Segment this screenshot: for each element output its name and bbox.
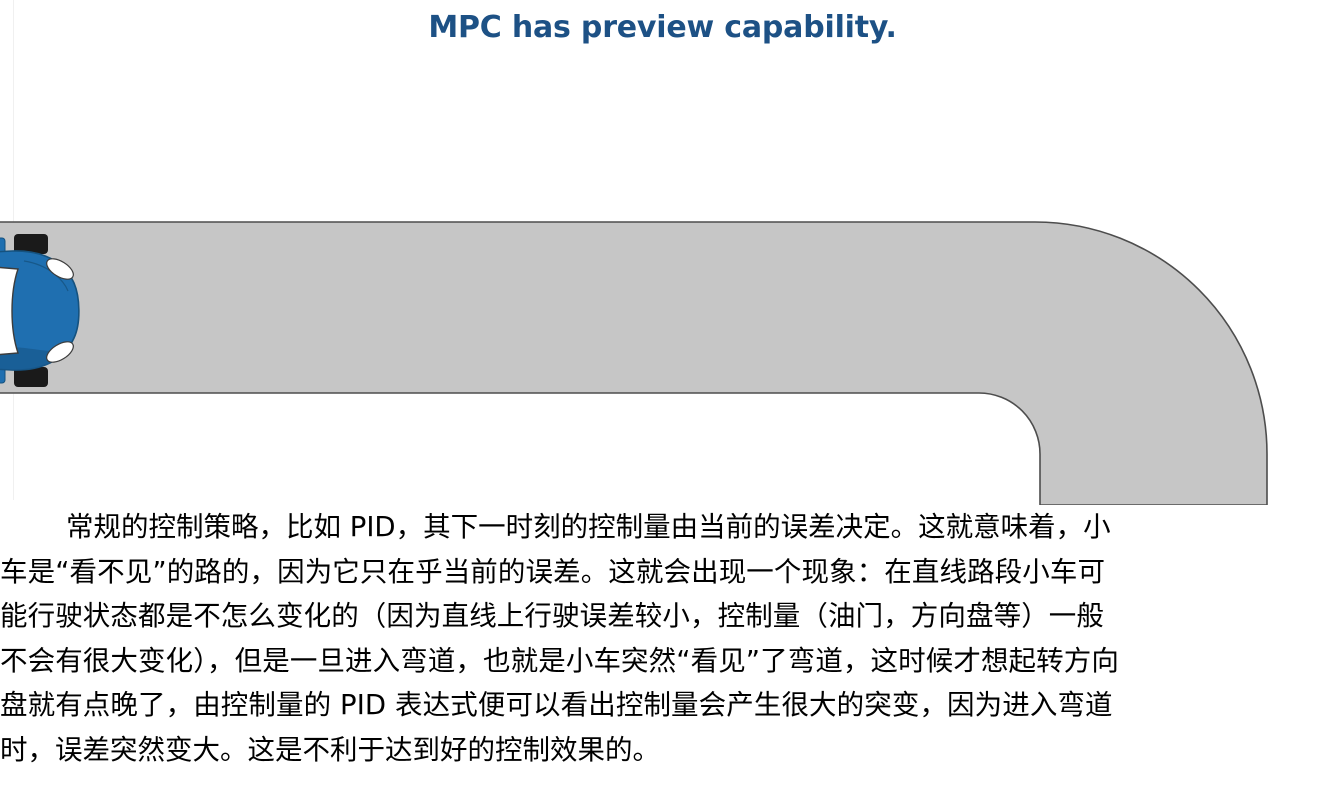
body-line: 盘就有点晚了，由控制量的 PID 表达式便可以看出控制量会产生很大的突变，因为进… [0,683,1325,728]
page-root: MPC has preview capability. [0,0,1325,796]
slide-figure-area: MPC has preview capability. [0,0,1325,500]
road-shape [0,222,1267,505]
body-line: 常规的控制策略，比如 PID，其下一时刻的控制量由当前的误差决定。这就意味着，小 [0,505,1325,550]
body-paragraph: 常规的控制策略，比如 PID，其下一时刻的控制量由当前的误差决定。这就意味着，小… [0,505,1325,796]
body-line: 能行驶状态都是不怎么变化的（因为直线上行驶误差较小，控制量（油门，方向盘等）一般 [0,594,1325,639]
body-line: 车是“看不见”的路的，因为它只在乎当前的误差。这就会出现一个现象：在直线路段小车… [0,550,1325,595]
page-title: MPC has preview capability. [0,10,1325,45]
car-on-curved-road-diagram [0,215,1325,505]
body-line: 不会有很大变化），但是一旦进入弯道，也就是小车突然“看见”了弯道，这时候才想起转… [0,639,1325,684]
body-line: 时，误差突然变大。这是不利于达到好的控制效果的。 [0,728,1325,773]
